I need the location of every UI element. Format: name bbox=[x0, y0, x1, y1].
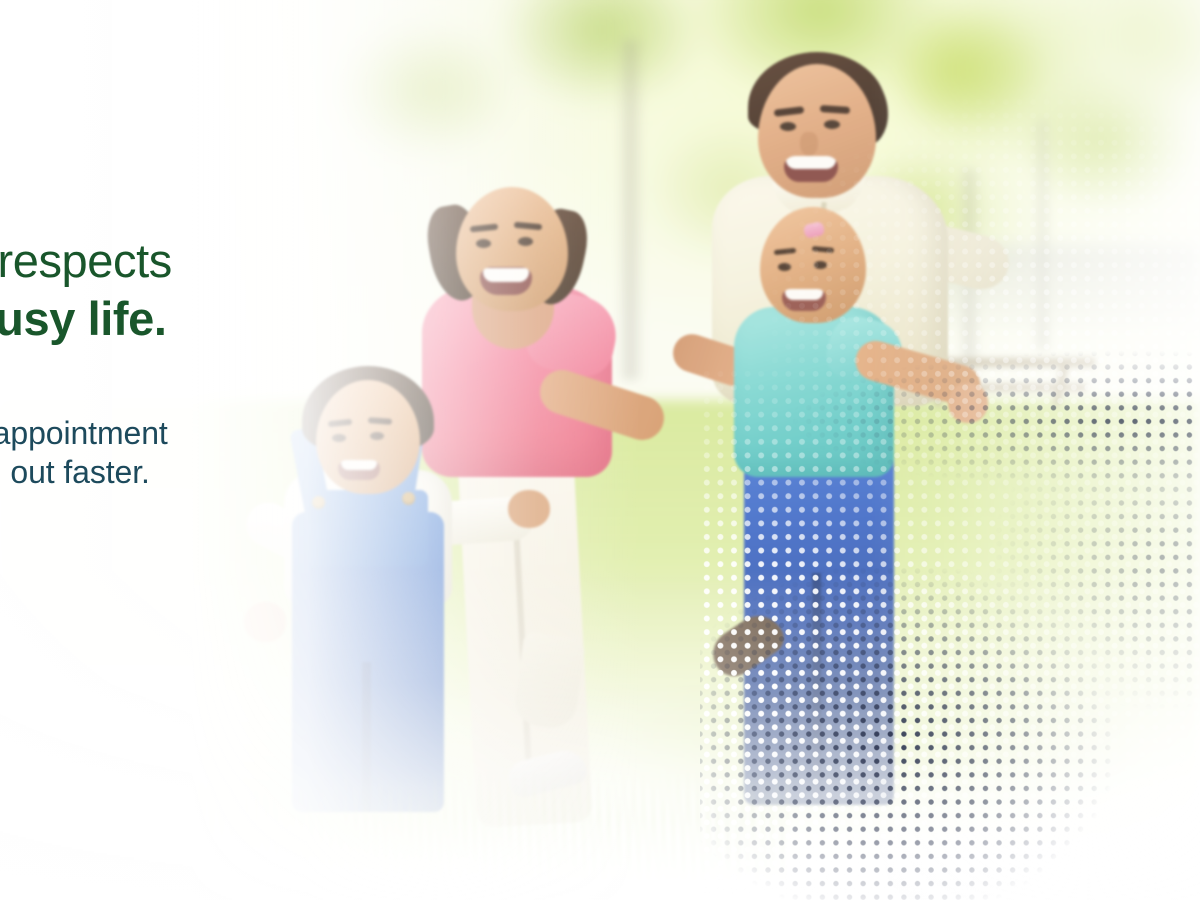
headline-line-2: ur busy life. bbox=[0, 290, 548, 348]
headline-line-1: that respects bbox=[0, 232, 548, 290]
girl-eye bbox=[814, 261, 827, 269]
man-nose bbox=[800, 132, 818, 156]
boy-overall-button bbox=[312, 496, 325, 509]
man-eye bbox=[780, 122, 796, 131]
girl-hand bbox=[948, 383, 988, 423]
girl-eye bbox=[778, 263, 791, 271]
subcopy-line-2: n and out faster. bbox=[0, 453, 542, 492]
subcopy-line-1: e an appointment bbox=[0, 414, 542, 453]
boy-hand bbox=[508, 490, 550, 528]
man-eye bbox=[824, 120, 840, 129]
grass-blades bbox=[170, 770, 790, 880]
man-smile bbox=[784, 156, 838, 182]
boy-hand bbox=[244, 602, 286, 642]
figure-girl bbox=[700, 215, 990, 835]
marketing-hero-banner: that respects ur busy life. e an appoint… bbox=[0, 0, 1200, 900]
girl-smile bbox=[782, 289, 826, 311]
boy-overall-button bbox=[402, 492, 415, 505]
headline: that respects ur busy life. bbox=[0, 232, 548, 348]
subcopy: e an appointment n and out faster. bbox=[0, 414, 542, 492]
